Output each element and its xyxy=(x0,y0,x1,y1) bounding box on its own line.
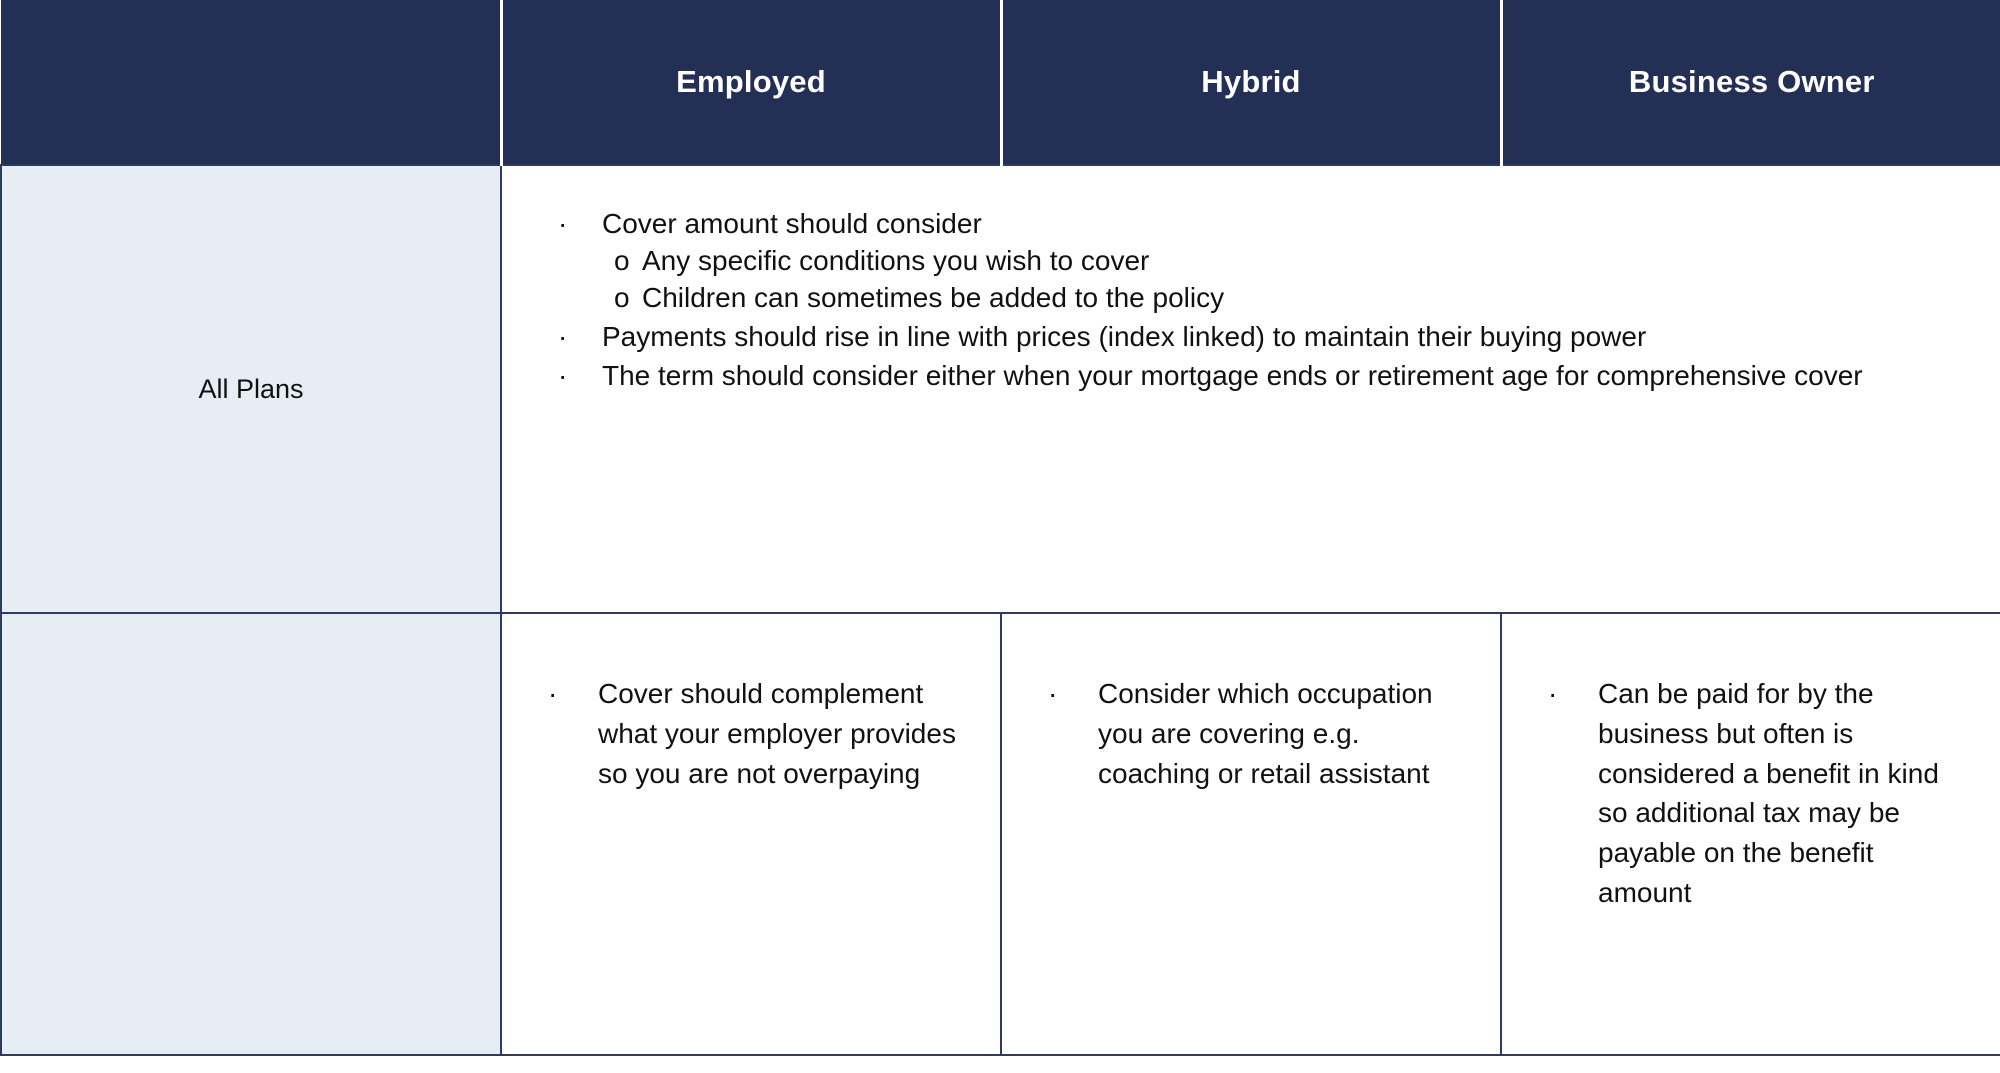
bullet-text: Payments should rise in line with prices… xyxy=(602,321,1646,352)
cell-employed-content: · Cover should complement what your empl… xyxy=(501,613,1001,1055)
bullet-item: · Can be paid for by the business but of… xyxy=(1538,674,1974,913)
sub-bullet-text: Children can sometimes be added to the p… xyxy=(642,282,1224,313)
bullet-dot-icon: · xyxy=(548,674,557,714)
sub-bullet-text: Any specific conditions you wish to cove… xyxy=(642,245,1149,276)
sub-bullet-list: o Any specific conditions you wish to co… xyxy=(602,243,1970,317)
bullet-item: · The term should consider either when y… xyxy=(550,358,1970,395)
table-row-plan-specific: · Cover should complement what your empl… xyxy=(1,613,2000,1055)
bullet-circle-icon: o xyxy=(614,243,630,280)
bullet-list-hybrid: · Consider which occupation you are cove… xyxy=(1038,674,1474,793)
row-label-all-plans: All Plans xyxy=(1,165,501,613)
cell-all-plans-content: · Cover amount should consider o Any spe… xyxy=(501,165,2000,613)
header-cell-row-label xyxy=(1,0,501,165)
bullet-dot-icon: · xyxy=(558,319,567,356)
sub-bullet-item: o Children can sometimes be added to the… xyxy=(602,280,1970,317)
bullet-circle-icon: o xyxy=(614,280,630,317)
bullet-dot-icon: · xyxy=(1548,674,1557,714)
bullet-item: · Consider which occupation you are cove… xyxy=(1038,674,1474,793)
bullet-text: The term should consider either when you… xyxy=(602,360,1863,391)
header-cell-hybrid: Hybrid xyxy=(1001,0,1501,165)
plans-comparison-table-container: Employed Hybrid Business Owner All Plans… xyxy=(0,0,2000,1073)
cell-hybrid-content: · Consider which occupation you are cove… xyxy=(1001,613,1501,1055)
header-cell-employed: Employed xyxy=(501,0,1001,165)
sub-bullet-item: o Any specific conditions you wish to co… xyxy=(602,243,1970,280)
bullet-text: Cover amount should consider xyxy=(602,208,982,239)
bullet-dot-icon: · xyxy=(558,206,567,243)
bullet-list-employed: · Cover should complement what your empl… xyxy=(538,674,974,793)
bullet-text: Consider which occupation you are coveri… xyxy=(1098,678,1433,789)
bullet-dot-icon: · xyxy=(558,358,567,395)
bullet-item: · Cover amount should consider o Any spe… xyxy=(550,206,1970,317)
table-header: Employed Hybrid Business Owner xyxy=(1,0,2000,165)
plans-comparison-table: Employed Hybrid Business Owner All Plans… xyxy=(0,0,2000,1056)
bullet-text: Cover should complement what your employ… xyxy=(598,678,956,789)
bullet-list-all-plans: · Cover amount should consider o Any spe… xyxy=(550,206,1970,395)
header-row: Employed Hybrid Business Owner xyxy=(1,0,2000,165)
table-row-all-plans: All Plans · Cover amount should consider… xyxy=(1,165,2000,613)
bullet-list-business-owner: · Can be paid for by the business but of… xyxy=(1538,674,1974,913)
bullet-item: · Payments should rise in line with pric… xyxy=(550,319,1970,356)
cell-business-owner-content: · Can be paid for by the business but of… xyxy=(1501,613,2000,1055)
header-cell-business-owner: Business Owner xyxy=(1501,0,2000,165)
table-body: All Plans · Cover amount should consider… xyxy=(1,165,2000,1055)
bullet-text: Can be paid for by the business but ofte… xyxy=(1598,678,1939,908)
bullet-dot-icon: · xyxy=(1048,674,1057,714)
bullet-item: · Cover should complement what your empl… xyxy=(538,674,974,793)
row-label-blank xyxy=(1,613,501,1055)
